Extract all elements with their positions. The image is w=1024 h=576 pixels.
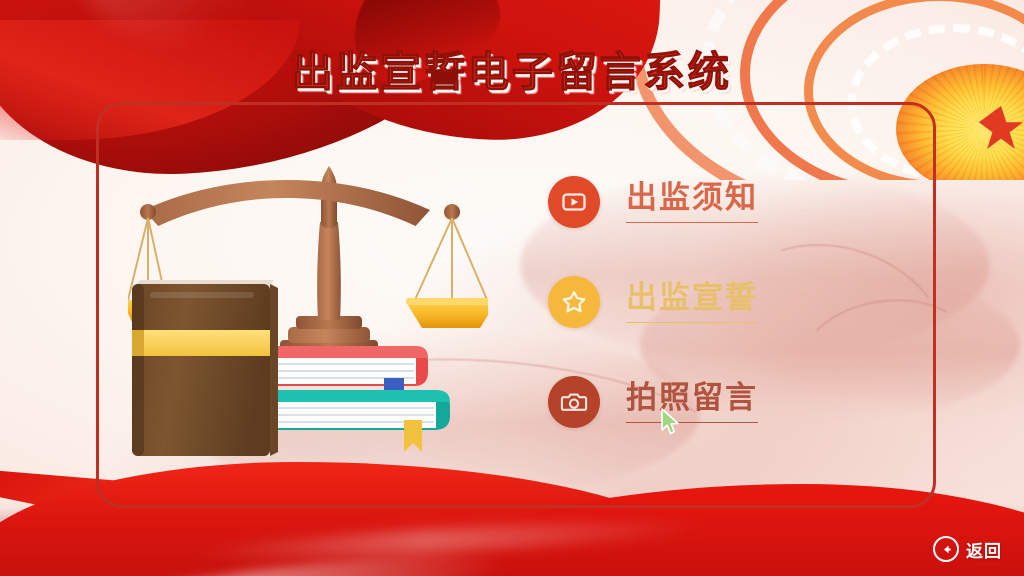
back-button-label: 返回: [966, 537, 1002, 562]
menu-item-oath-label: 出监宣誓: [626, 281, 758, 323]
star-icon[interactable]: [548, 276, 600, 328]
camera-icon[interactable]: [548, 376, 600, 428]
red-star-icon: [978, 106, 1024, 152]
menu-item-photo-message[interactable]: 拍照留言: [548, 370, 848, 434]
app-screen: 出监宣誓电子留言系统: [0, 0, 1024, 576]
mouse-pointer-icon: [660, 408, 682, 443]
menu-item-photo-message-label: 拍照留言: [626, 381, 758, 423]
back-arrow-icon[interactable]: [933, 536, 959, 562]
page-title: 出监宣誓电子留言系统: [0, 38, 1024, 98]
play-icon[interactable]: [548, 176, 600, 228]
menu-item-notice-label: 出监须知: [626, 181, 758, 223]
justice-illustration: [128, 152, 488, 472]
menu-item-notice[interactable]: 出监须知: [548, 170, 848, 234]
back-button[interactable]: 返回: [933, 536, 1002, 562]
menu-item-oath[interactable]: 出监宣誓: [548, 270, 848, 334]
main-menu: 出监须知 出监宣誓 拍照留言: [548, 170, 848, 470]
